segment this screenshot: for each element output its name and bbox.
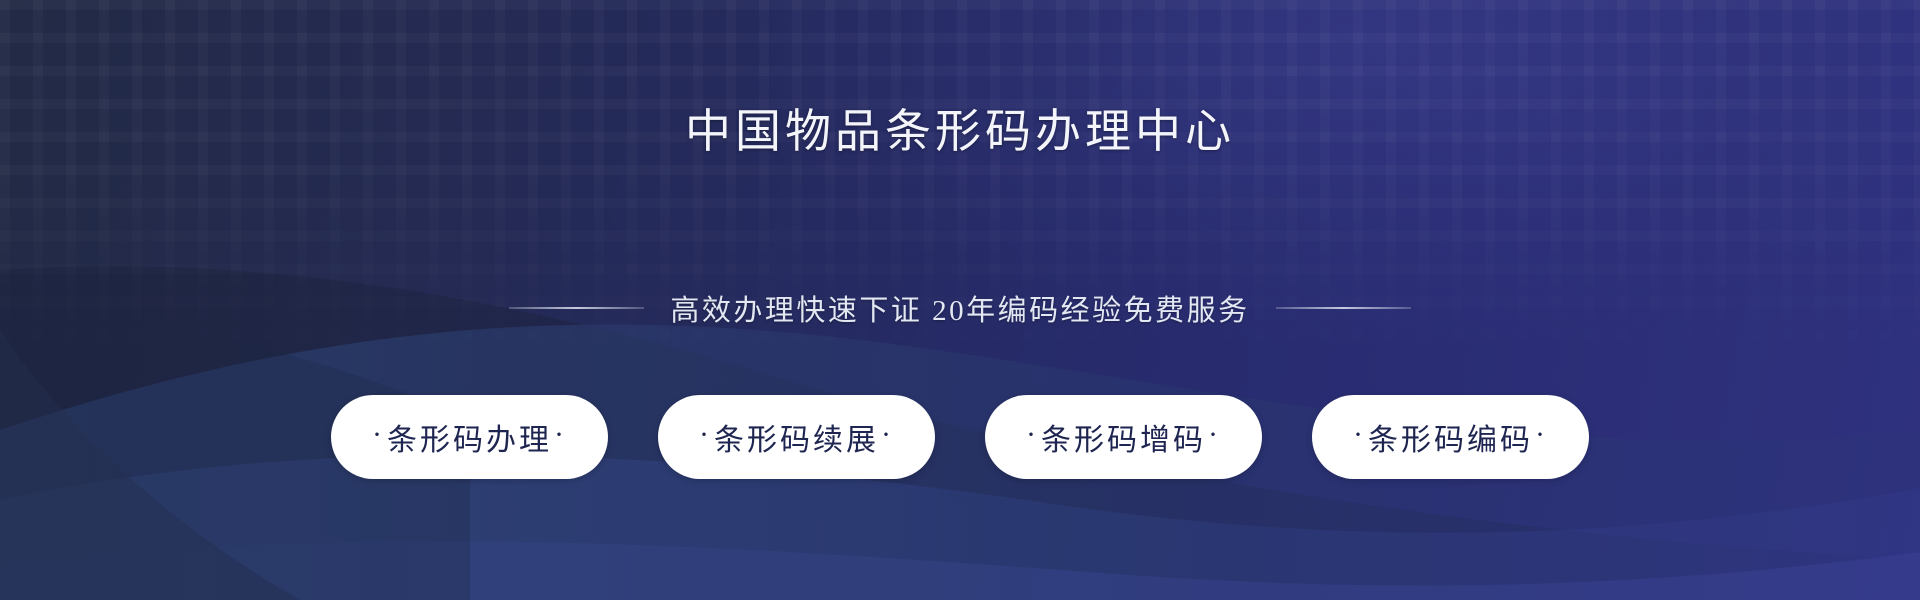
service-button-xuzhan[interactable]: · 条形码续展 · <box>658 395 935 479</box>
bullet-dot-icon: · <box>372 420 385 450</box>
bullet-dot-icon: · <box>554 420 567 450</box>
service-button-bianma[interactable]: · 条形码编码 · <box>1312 395 1589 479</box>
service-button-zengma[interactable]: · 条形码增码 · <box>985 395 1262 479</box>
subtitle-row: 高效办理快速下证 20年编码经验免费服务 <box>0 287 1920 329</box>
service-button-label: 条形码续展 <box>712 415 881 459</box>
hero-banner: 中国物品条形码办理中心 高效办理快速下证 20年编码经验免费服务 · 条形码办理… <box>0 0 1920 600</box>
service-button-banli[interactable]: · 条形码办理 · <box>331 395 608 479</box>
banner-content: 中国物品条形码办理中心 高效办理快速下证 20年编码经验免费服务 · 条形码办理… <box>0 0 1920 600</box>
service-button-label: 条形码编码 <box>1366 415 1535 459</box>
page-title: 中国物品条形码办理中心 <box>0 95 1920 161</box>
subtitle-text: 高效办理快速下证 20年编码经验免费服务 <box>670 287 1249 329</box>
bullet-dot-icon: · <box>1353 420 1366 450</box>
bullet-dot-icon: · <box>699 420 712 450</box>
bullet-dot-icon: · <box>1208 420 1221 450</box>
bullet-dot-icon: · <box>1026 420 1039 450</box>
decorative-rule-right <box>1276 307 1411 309</box>
service-button-label: 条形码办理 <box>385 415 554 459</box>
service-button-label: 条形码增码 <box>1039 415 1208 459</box>
bullet-dot-icon: · <box>881 420 894 450</box>
decorative-rule-left <box>509 307 644 309</box>
bullet-dot-icon: · <box>1535 420 1548 450</box>
service-button-group: · 条形码办理 · · 条形码续展 · · 条形码增码 · · 条形码编码 · <box>0 395 1920 479</box>
